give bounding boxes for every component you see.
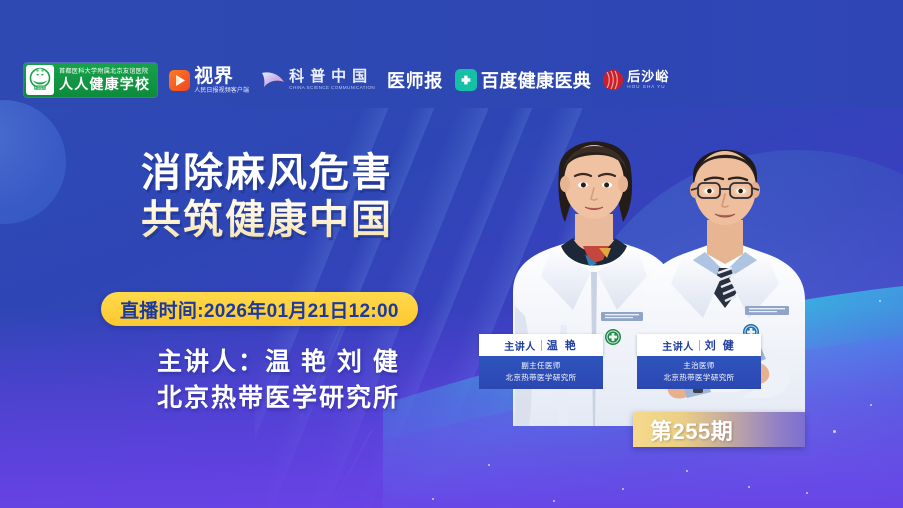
logo-kepu-china: 科普中国 CHINA SCIENCE COMMUNICATION [261, 69, 375, 91]
divider [541, 340, 542, 351]
presenter-line-1: 主讲人：温 艳 刘 健 [157, 348, 400, 376]
live-time-label: 直播时间:2026年01月21日12:00 [120, 296, 399, 323]
star-dot [686, 470, 688, 472]
title-line-2: 共筑健康中国 [141, 197, 393, 244]
medical-cross-seal-icon: 友谊医院 [26, 65, 54, 95]
logo-headline: 首都医科大学附属北京友谊医院 [59, 69, 150, 75]
speaker-name: 刘 健 [705, 337, 736, 353]
logo-baidu-health: 百度健康医典 [455, 67, 591, 93]
presenter-line-2: 北京热带医学研究所 [157, 380, 400, 416]
logo-subtitle: 人民日报视频客户端 [194, 88, 249, 94]
star-dot [488, 464, 490, 466]
star-dot [806, 492, 808, 494]
speaker-institute: 北京热带医学研究所 [637, 372, 761, 384]
episode-label: 第255期 [650, 414, 733, 446]
page-title: 消除麻风危害 共筑健康中国 [141, 150, 393, 244]
logo-title: 科普中国 [289, 69, 375, 84]
medical-cross-icon [455, 69, 477, 91]
speaker-institute: 北京热带医学研究所 [479, 372, 603, 384]
logo-title: 后沙峪 [627, 70, 669, 83]
logo-shijie: 视界 人民日报视频客户端 [169, 67, 249, 94]
logo-subtitle: CHINA SCIENCE COMMUNICATION [289, 86, 375, 91]
partner-logo-bar: 友谊医院 首都医科大学附属北京友谊医院 人人健康学校 视界 人民日报视频客户端 [24, 60, 669, 100]
episode-badge: 第255期 [633, 412, 805, 447]
logo-title: 人人健康学校 [59, 77, 150, 91]
logo-renren-health-school: 友谊医院 首都医科大学附属北京友谊医院 人人健康学校 [24, 63, 157, 97]
speaker-role-label: 主讲人 [662, 338, 694, 353]
star-dot [553, 500, 555, 502]
ribbon-fan-icon [261, 69, 285, 91]
live-time-badge: 直播时间:2026年01月21日12:00 [101, 292, 418, 326]
star-dot [870, 404, 872, 406]
star-dot [622, 488, 624, 490]
speaker-tag-wen-yan: 主讲人 温 艳 副主任医师 北京热带医学研究所 [479, 334, 603, 389]
logo-housha-yu: 后沙峪 HOU SHA YU [603, 70, 669, 90]
speaker-title: 副主任医师 [479, 360, 603, 372]
speaker-title: 主治医师 [637, 360, 761, 372]
star-dot [833, 430, 836, 433]
star-dot [879, 300, 881, 302]
speaker-tag-header: 主讲人 刘 健 [637, 334, 761, 356]
live-stream-poster: 友谊医院 首都医科大学附属北京友谊医院 人人健康学校 视界 人民日报视频客户端 [0, 0, 903, 508]
speaker-tag-header: 主讲人 温 艳 [479, 334, 603, 356]
logo-title: 百度健康医典 [481, 67, 591, 93]
speaker-name: 温 艳 [547, 337, 578, 353]
logo-subtitle: HOU SHA YU [627, 85, 669, 90]
speaker-tag-body: 主治医师 北京热带医学研究所 [637, 356, 761, 389]
title-line-1: 消除麻风危害 [141, 151, 393, 195]
speaker-role-label: 主讲人 [504, 338, 536, 353]
divider [699, 340, 700, 351]
speaker-tag-liu-jian: 主讲人 刘 健 主治医师 北京热带医学研究所 [637, 334, 761, 389]
play-triangle-icon [169, 70, 190, 91]
star-dot [432, 498, 434, 500]
logo-yishibao: 医师报 [387, 67, 443, 93]
speaker-tag-body: 副主任医师 北京热带医学研究所 [479, 356, 603, 389]
star-dot [748, 486, 750, 488]
svg-text:友谊医院: 友谊医院 [34, 85, 46, 90]
logo-title: 视界 [194, 67, 249, 86]
red-circle-icon [603, 70, 623, 90]
presenter-info: 主讲人：温 艳 刘 健 北京热带医学研究所 [157, 344, 400, 417]
